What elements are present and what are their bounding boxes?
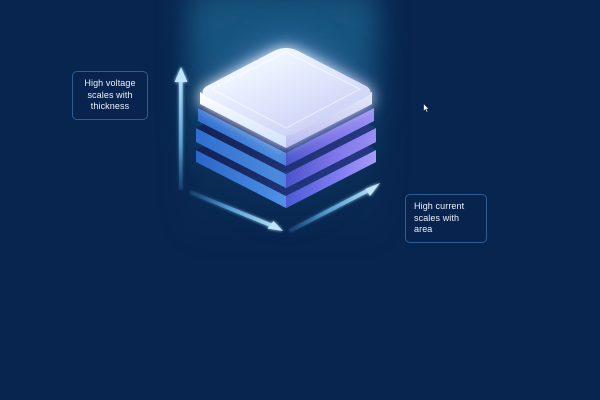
callout-high-current: High current scales with area	[405, 194, 487, 243]
diagram-canvas: High voltage scales with thickness High …	[0, 0, 600, 400]
callout-voltage-line-1: High voltage	[81, 78, 139, 90]
callout-current-line-1: High current	[414, 201, 478, 213]
callout-voltage-line-2: scales with	[81, 90, 139, 102]
callout-high-voltage: High voltage scales with thickness	[72, 71, 148, 120]
callout-voltage-line-3: thickness	[81, 101, 139, 113]
mouse-cursor	[423, 103, 430, 113]
callout-current-line-2: scales with area	[414, 213, 478, 236]
cursor-icon	[423, 103, 430, 113]
stack-glow-halo	[176, 30, 396, 180]
